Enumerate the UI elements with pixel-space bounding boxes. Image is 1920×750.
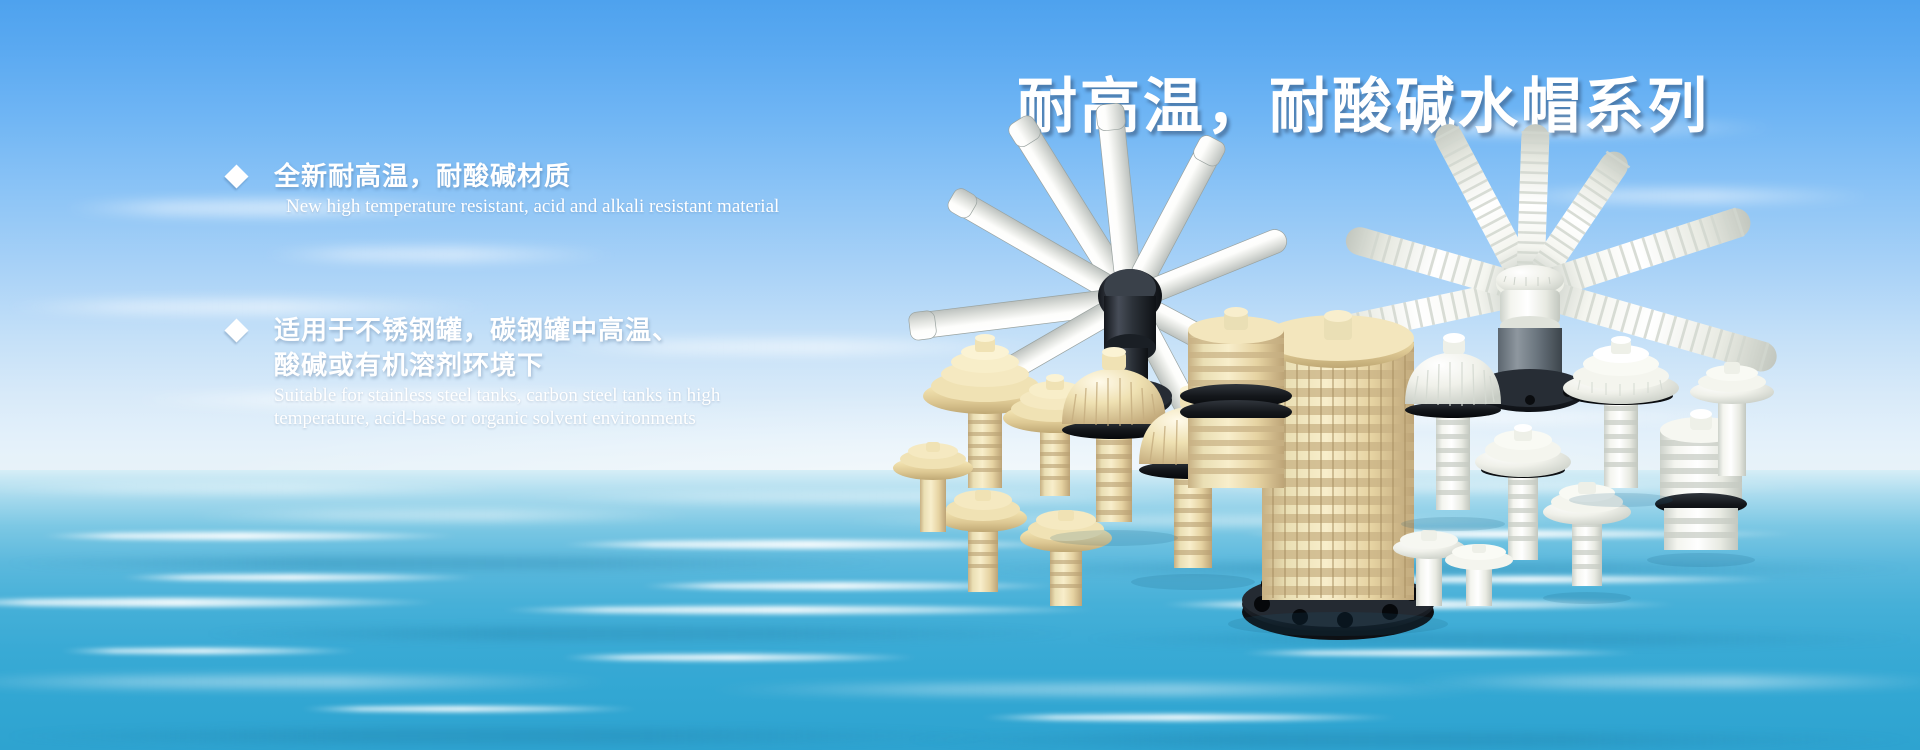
strainer-nozzle (939, 490, 1027, 592)
strainer-nozzle (1445, 544, 1513, 606)
promo-banner: 耐高温，耐酸碱水帽系列 全新耐高温，耐酸碱材质 New high tempera… (0, 0, 1920, 750)
filter-nozzle-product-cluster (0, 0, 1920, 750)
strainer-nozzle (1020, 510, 1112, 606)
strainer-nozzle (1405, 333, 1501, 510)
stacked-disc-filter (1180, 307, 1292, 488)
strainer-nozzle (1475, 424, 1571, 560)
